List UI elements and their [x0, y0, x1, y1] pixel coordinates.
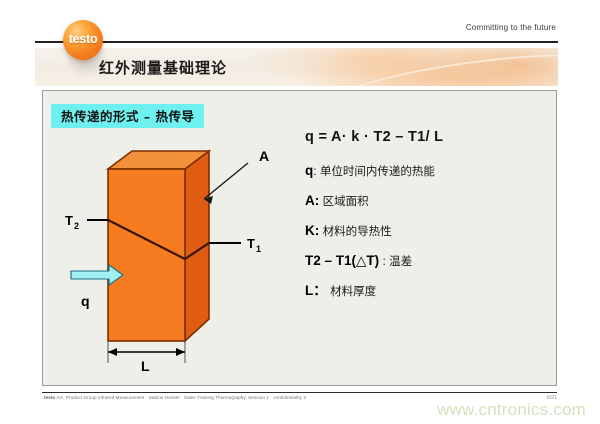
conduction-block-diagram: A T 2 T 1 q L: [63, 141, 313, 371]
legend-row: K: 材料的导热性: [305, 223, 550, 239]
legend-description: 温差: [389, 254, 412, 268]
page-title: 红外测量基础理论: [99, 57, 227, 78]
header-divider-rule: [35, 41, 558, 43]
content-panel: 热传递的形式 – 热传导 A T 2: [42, 90, 557, 386]
site-watermark: www.cntronics.com: [437, 400, 586, 420]
footer-brand: testo: [44, 395, 55, 400]
length-arrowhead-left: [108, 348, 117, 356]
label-q: q: [81, 293, 90, 309]
legend-description: 材料厚度: [330, 284, 376, 298]
legend-symbol: L：: [305, 283, 327, 298]
label-area: A: [259, 148, 269, 164]
legend-symbol: A:: [305, 193, 319, 208]
section-heading: 热传递的形式 – 热传导: [51, 104, 204, 128]
legend-description: 单位时间内传递的热能: [320, 164, 435, 178]
legend-separator: :: [313, 164, 316, 178]
length-arrowhead-right: [176, 348, 185, 356]
label-t2-subscript: 2: [74, 221, 79, 231]
testo-logo-label: testo: [63, 32, 103, 46]
footer-divider-rule: [42, 392, 557, 393]
slide-title-band: 红外测量基础理论: [35, 48, 558, 86]
label-length: L: [141, 358, 150, 371]
block-front-face: [108, 169, 185, 341]
formula-column: q = A· k · T2 – T1/ L q: 单位时间内传递的热能 A: 区…: [305, 129, 550, 313]
testo-logo: testo: [63, 20, 103, 60]
legend-description: 材料的导热性: [323, 224, 392, 238]
slide-canvas: Committing to the future testo 红外测量基础理论 …: [0, 0, 600, 424]
label-t2: T: [65, 213, 73, 228]
label-t1: T: [247, 236, 255, 251]
legend-separator: :: [382, 254, 385, 268]
legend-symbol: T2 – T1(△T): [305, 253, 379, 268]
legend-row: T2 – T1(△T) : 温差: [305, 253, 550, 269]
area-leader-line: [204, 163, 248, 199]
footer-credits: testo AG, Product Group Infrared Measure…: [44, 395, 306, 400]
legend-symbol: K:: [305, 223, 319, 238]
conduction-equation: q = A· k · T2 – T1/ L: [305, 129, 550, 145]
slide-header: Committing to the future testo: [35, 20, 558, 48]
legend-row: q: 单位时间内传递的热能: [305, 163, 550, 179]
legend-row: A: 区域面积: [305, 193, 550, 209]
label-t1-subscript: 1: [256, 244, 261, 254]
legend-description: 区域面积: [323, 194, 369, 208]
legend-row: L： 材料厚度: [305, 283, 550, 299]
company-tagline: Committing to the future: [466, 23, 556, 32]
footer-credit-text: AG, Product Group Infrared Measurement ·…: [56, 395, 306, 400]
legend-symbol: q: [305, 163, 313, 178]
